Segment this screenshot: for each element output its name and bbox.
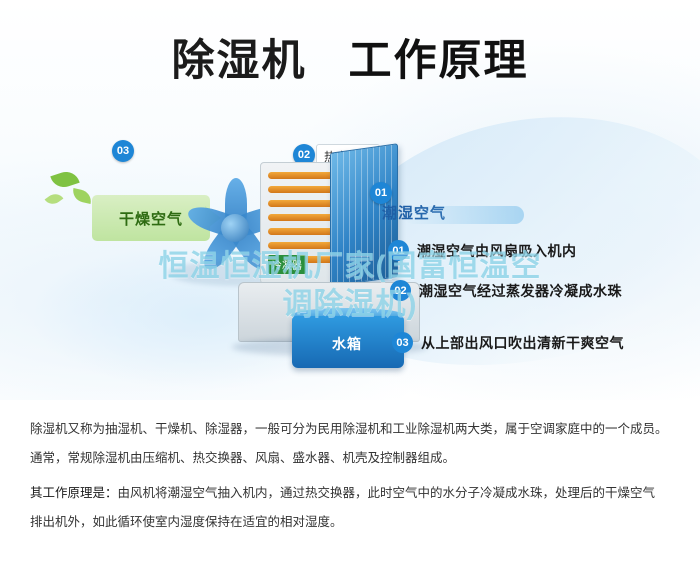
water-tank-label: 水箱	[332, 334, 362, 354]
step-number: 02	[390, 280, 411, 301]
step-text: 潮湿空气经过蒸发器冷凝成水珠	[419, 281, 622, 301]
title-main: 除湿机	[172, 37, 307, 85]
description-lead: 其工作原理是：	[30, 486, 118, 500]
page-title: 除湿机 工作原理	[0, 26, 700, 88]
badge-01: 01	[370, 182, 392, 204]
step-item-02: 02 潮湿空气经过蒸发器冷凝成水珠	[390, 280, 622, 301]
step-item-03: 03 从上部出风口吹出清新干爽空气	[392, 332, 624, 353]
step-number: 01	[388, 240, 409, 261]
step-text: 从上部出风口吹出清新干爽空气	[421, 333, 624, 353]
description-block: 除湿机又称为抽湿机、干燥机、除湿器，一般可分为民用除湿机和工业除湿机两大类，属于…	[30, 418, 670, 541]
description-paragraph-3: 其工作原理是：由风机将潮湿空气抽入机内，通过热交换器，此时空气中的水分子冷凝成水…	[30, 482, 670, 505]
description-paragraph-3-text: 由风机将潮湿空气抽入机内，通过热交换器，此时空气中的水分子冷凝成水珠，处理后的干…	[118, 486, 656, 500]
infographic-page: 除湿机 工作原理 03 干燥空气 02 热交换器	[0, 0, 700, 566]
badge-03: 03	[112, 140, 134, 162]
step-number: 03	[392, 332, 413, 353]
dehumidifier-diagram: 03 干燥空气 02 热交换器 冷凝器	[0, 110, 700, 400]
description-paragraph-4: 排出机外，如此循环使室内湿度保持在适宜的相对湿度。	[30, 511, 670, 534]
leaf-icon	[71, 188, 93, 204]
description-paragraph-2: 通常，常规除湿机由压缩机、热交换器、风扇、盛水器、机壳及控制器组成。	[30, 447, 670, 470]
leaf-icon	[50, 168, 79, 190]
description-paragraph-1: 除湿机又称为抽湿机、干燥机、除湿器，一般可分为民用除湿机和工业除湿机两大类，属于…	[30, 418, 670, 441]
fan-hub-icon	[221, 214, 249, 242]
title-sub: 工作原理	[348, 37, 528, 85]
step-text: 潮湿空气由风扇吸入机内	[417, 241, 577, 261]
condenser-label: 冷凝器	[268, 255, 306, 274]
leaf-icon	[45, 190, 64, 207]
step-item-01: 01 潮湿空气由风扇吸入机内	[388, 240, 577, 261]
airflow-arrow-icon	[404, 206, 524, 224]
